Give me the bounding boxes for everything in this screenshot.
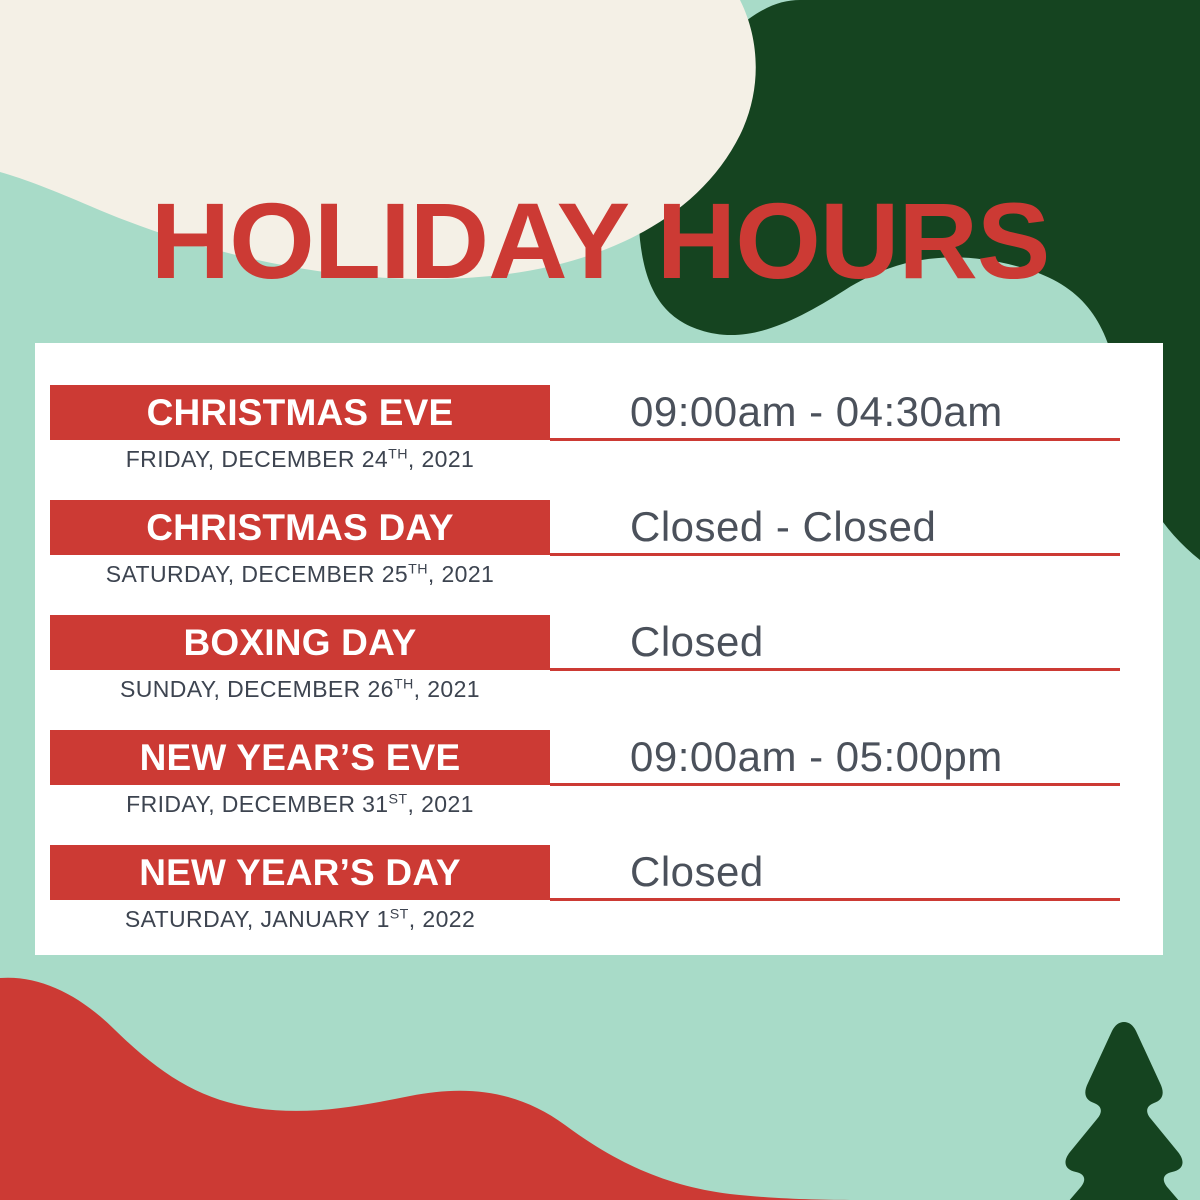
holiday-name-bar: NEW YEAR’S EVE [50,730,550,785]
schedule-card: CHRISTMAS EVE FRIDAY, DECEMBER 24TH, 202… [35,343,1163,955]
holiday-hours: Closed [630,847,764,897]
hours-underline [550,668,1120,671]
holiday-date-prefix: SATURDAY, JANUARY 1 [125,906,390,932]
holiday-name-bar: NEW YEAR’S DAY [50,845,550,900]
table-row: CHRISTMAS DAY SATURDAY, DECEMBER 25TH, 2… [35,458,1163,573]
holiday-hours-poster: HOLIDAY HOURS CHRISTMAS EVE FRIDAY, DECE… [0,0,1200,1200]
holiday-name: NEW YEAR’S DAY [139,854,461,892]
holiday-name-bar: CHRISTMAS EVE [50,385,550,440]
hours-underline [550,438,1120,441]
hours-underline [550,898,1120,901]
holiday-hours: 09:00am - 04:30am [630,387,1003,437]
red-wave-shape [0,978,855,1200]
holiday-date: SATURDAY, JANUARY 1ST, 2022 [50,906,550,932]
holiday-name: CHRISTMAS DAY [146,509,454,547]
table-row: NEW YEAR’S EVE FRIDAY, DECEMBER 31ST, 20… [35,688,1163,803]
hours-underline [550,553,1120,556]
holiday-date-ordinal: ST [390,906,409,922]
schedule-rows: CHRISTMAS EVE FRIDAY, DECEMBER 24TH, 202… [35,343,1163,925]
table-row: CHRISTMAS EVE FRIDAY, DECEMBER 24TH, 202… [35,343,1163,458]
table-row: NEW YEAR’S DAY SATURDAY, JANUARY 1ST, 20… [35,803,1163,925]
holiday-hours: Closed [630,617,764,667]
page-title: HOLIDAY HOURS [0,185,1200,297]
christmas-tree-icon [1058,1022,1191,1200]
holiday-name: BOXING DAY [184,624,417,662]
holiday-hours: 09:00am - 05:00pm [630,732,1003,782]
holiday-hours: Closed - Closed [630,502,936,552]
holiday-name-bar: CHRISTMAS DAY [50,500,550,555]
holiday-name-bar: BOXING DAY [50,615,550,670]
hours-underline [550,783,1120,786]
table-row: BOXING DAY SUNDAY, DECEMBER 26TH, 2021 C… [35,573,1163,688]
holiday-name: CHRISTMAS EVE [147,394,454,432]
holiday-name: NEW YEAR’S EVE [140,739,461,777]
holiday-date-suffix: , 2022 [409,906,475,932]
